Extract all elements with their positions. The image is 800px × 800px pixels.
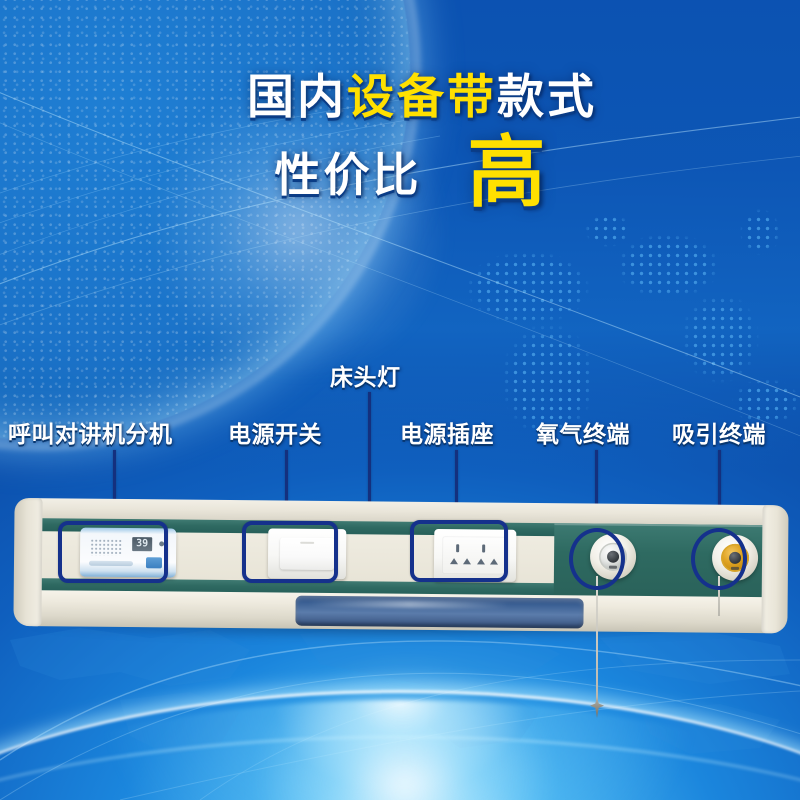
callout-label-power-socket: 电源插座 [400,415,494,449]
highlight-nurse-call-intercom [58,521,168,583]
callout-label-suction-terminal: 吸引终端 [672,415,766,449]
callout-label-nurse-call-intercom: 呼叫对讲机分机 [8,415,173,449]
callout-label-power-switch: 电源开关 [228,415,322,449]
highlight-power-switch [242,521,338,583]
panel-end-cap-left [13,498,42,626]
oxygen-pull-cord[interactable] [596,576,598,701]
highlight-oxygen-terminal [569,528,625,590]
highlight-power-socket [410,520,508,582]
horizon-center-glow [255,660,555,800]
highlight-suction-terminal [691,528,747,590]
callout-label-bed-head-lamp: 床头灯 [330,358,401,392]
bed-head-lamp-strip[interactable] [295,596,583,629]
callout-label-oxygen-terminal: 氧气终端 [536,415,630,449]
poster-canvas: 国内设备带款式 性价比 高 呼叫对讲机分机 电源开关 床头灯 电源插座 氧气终端… [0,0,800,800]
panel-end-cap-right [761,505,788,633]
